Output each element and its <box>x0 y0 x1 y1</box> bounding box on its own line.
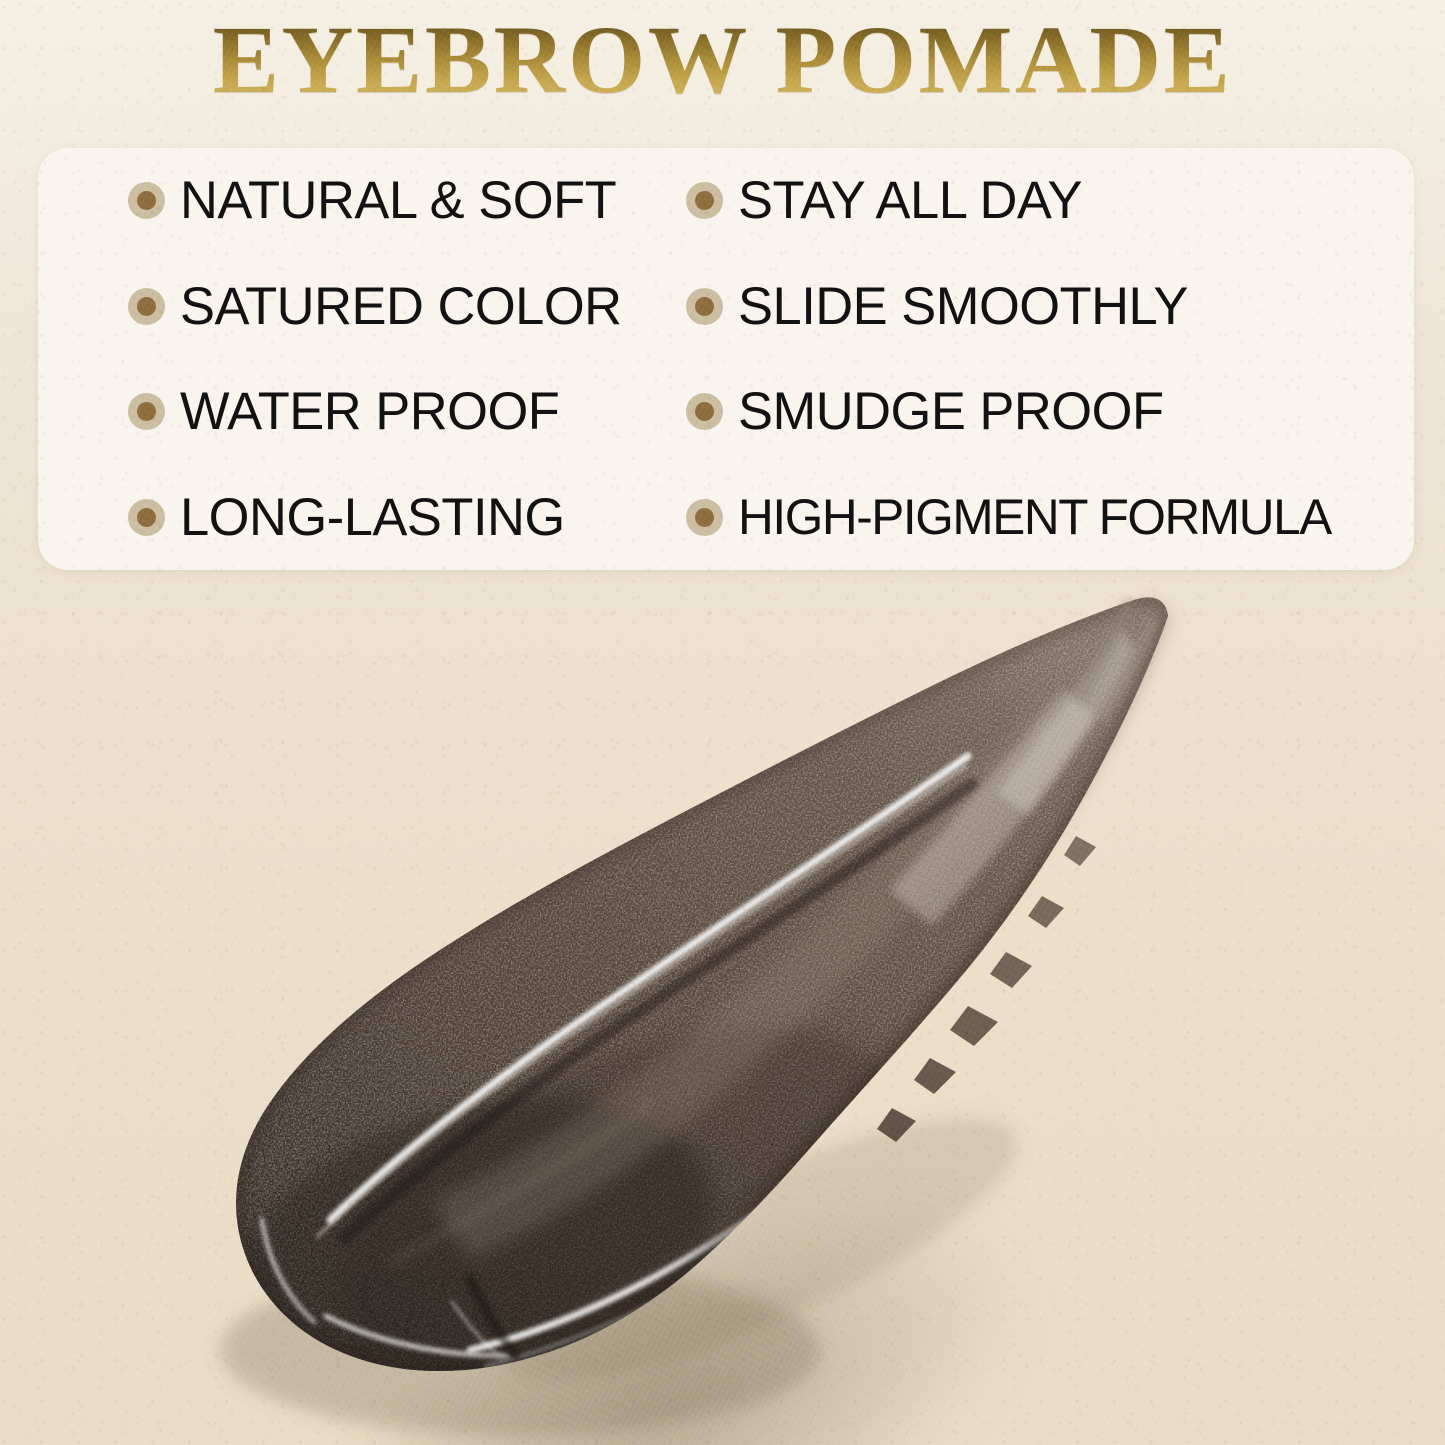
feature-label: SATURED COLOR <box>180 280 622 333</box>
feature-label: LONG-LASTING <box>180 491 565 544</box>
bullet-dot-icon <box>128 393 165 430</box>
feature-item-satured-color: SATURED COLOR <box>38 254 686 360</box>
feature-label: HIGH-PIGMENT FORMULA <box>738 492 1331 542</box>
feature-label: NATURAL & SOFT <box>180 174 616 227</box>
feature-grid: NATURAL & SOFT STAY ALL DAY SATURED COLO… <box>38 148 1414 570</box>
bullet-dot-icon <box>686 288 723 325</box>
bullet-dot-icon <box>128 288 165 325</box>
product-marketing-image: EYEBROW POMADE NATURAL & SOFT STAY ALL D… <box>0 0 1445 1445</box>
bullet-dot-icon <box>128 499 165 536</box>
feature-label: WATER PROOF <box>180 385 559 438</box>
bullet-dot-icon <box>686 393 723 430</box>
feature-item-high-pigment-formula: HIGH-PIGMENT FORMULA <box>686 465 1414 571</box>
feature-item-long-lasting: LONG-LASTING <box>38 465 686 571</box>
feature-label: SMUDGE PROOF <box>738 385 1164 438</box>
feature-item-slide-smoothly: SLIDE SMOOTHLY <box>686 254 1414 360</box>
feature-item-smudge-proof: SMUDGE PROOF <box>686 359 1414 465</box>
bullet-dot-icon <box>686 499 723 536</box>
feature-item-natural-soft: NATURAL & SOFT <box>38 148 686 254</box>
feature-item-stay-all-day: STAY ALL DAY <box>686 148 1414 254</box>
page-title: EYEBROW POMADE <box>0 0 1445 120</box>
pomade-swatch <box>0 560 1445 1445</box>
pomade-swatch-stage <box>0 560 1445 1445</box>
feature-label: SLIDE SMOOTHLY <box>738 280 1188 333</box>
feature-list-card: NATURAL & SOFT STAY ALL DAY SATURED COLO… <box>38 148 1414 570</box>
page-title-text: EYEBROW POMADE <box>213 12 1233 108</box>
feature-label: STAY ALL DAY <box>738 174 1082 227</box>
feature-item-water-proof: WATER PROOF <box>38 359 686 465</box>
bullet-dot-icon <box>128 182 165 219</box>
bullet-dot-icon <box>686 182 723 219</box>
